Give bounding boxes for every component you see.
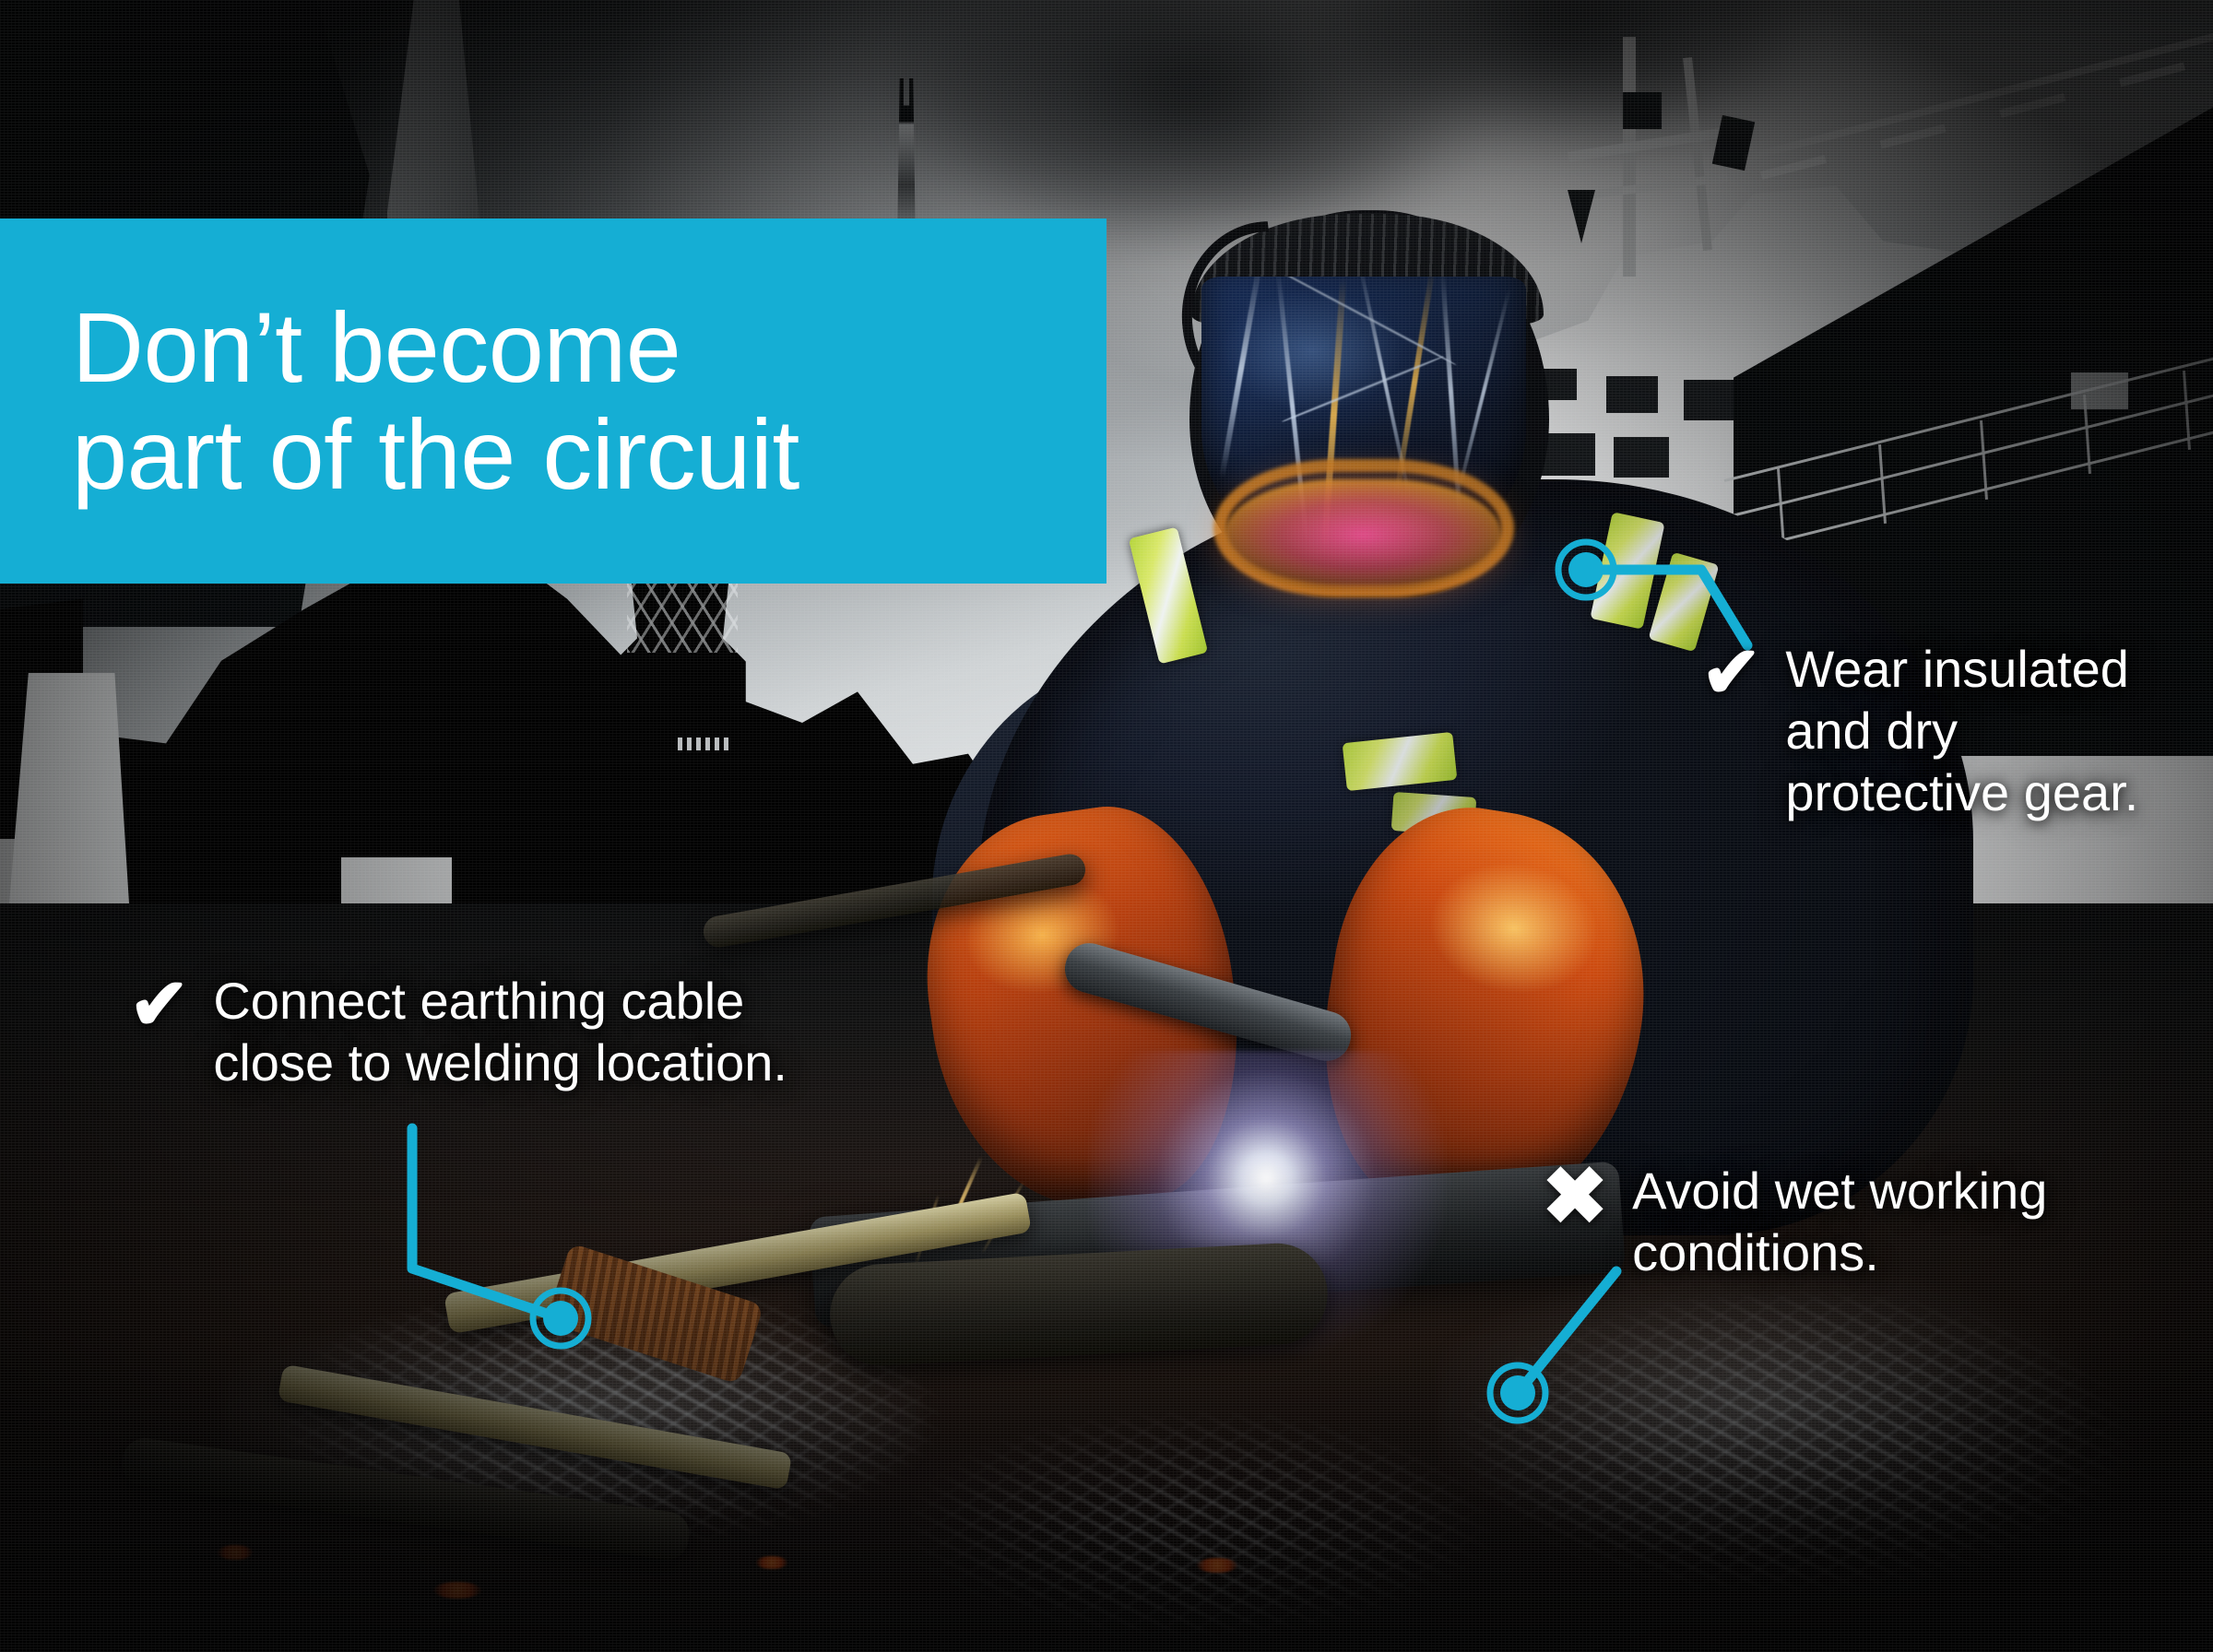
hot-ember <box>1197 1558 1237 1573</box>
hot-ember <box>756 1556 787 1569</box>
callout-connect-earthing-cable: ✔ Connect earthing cable close to weldin… <box>129 970 787 1093</box>
cross-icon: ✖ <box>1542 1162 1608 1233</box>
callout-line: Connect earthing cable <box>213 970 787 1032</box>
ship-window <box>1614 437 1669 478</box>
callout-avoid-wet-conditions: ✖ Avoid wet working conditions. <box>1542 1160 2047 1283</box>
callout-avoid-wet-conditions-text: Avoid wet working conditions. <box>1632 1160 2047 1283</box>
check-icon: ✔ <box>129 972 189 1036</box>
callout-line: Wear insulated <box>1785 638 2138 700</box>
callout-wear-insulated: ✔ Wear insulated and dry protective gear… <box>1701 638 2138 824</box>
callout-line: protective gear. <box>1785 761 2138 823</box>
wet-spray-texture <box>1457 1291 2139 1595</box>
deck-sign <box>2071 372 2128 409</box>
title-banner: Don’t become part of the circuit <box>0 218 1106 584</box>
visor-reflection-glow <box>1225 479 1501 590</box>
check-icon: ✔ <box>1701 640 1761 704</box>
title-line-2: part of the circuit <box>72 401 1106 508</box>
ship-window <box>1684 380 1741 420</box>
hot-ember <box>433 1582 481 1599</box>
ship-window <box>1606 376 1658 413</box>
wet-spray-texture <box>904 1410 1494 1641</box>
callout-line: Avoid wet working <box>1632 1160 2047 1221</box>
crane-label-mark <box>678 737 733 750</box>
ship-mast <box>1623 37 1636 277</box>
callout-line: conditions. <box>1632 1221 2047 1283</box>
title-line-1: Don’t become <box>72 294 1106 401</box>
callout-line: close to welding location. <box>213 1032 787 1093</box>
callout-wear-insulated-text: Wear insulated and dry protective gear. <box>1785 638 2138 824</box>
safety-poster: Don’t become part of the circuit ✔ Wear … <box>0 0 2213 1652</box>
callout-line: and dry <box>1785 700 2138 761</box>
callout-connect-earthing-cable-text: Connect earthing cable close to welding … <box>213 970 787 1093</box>
hot-ember <box>218 1545 253 1560</box>
ship-fixture <box>1623 92 1662 129</box>
